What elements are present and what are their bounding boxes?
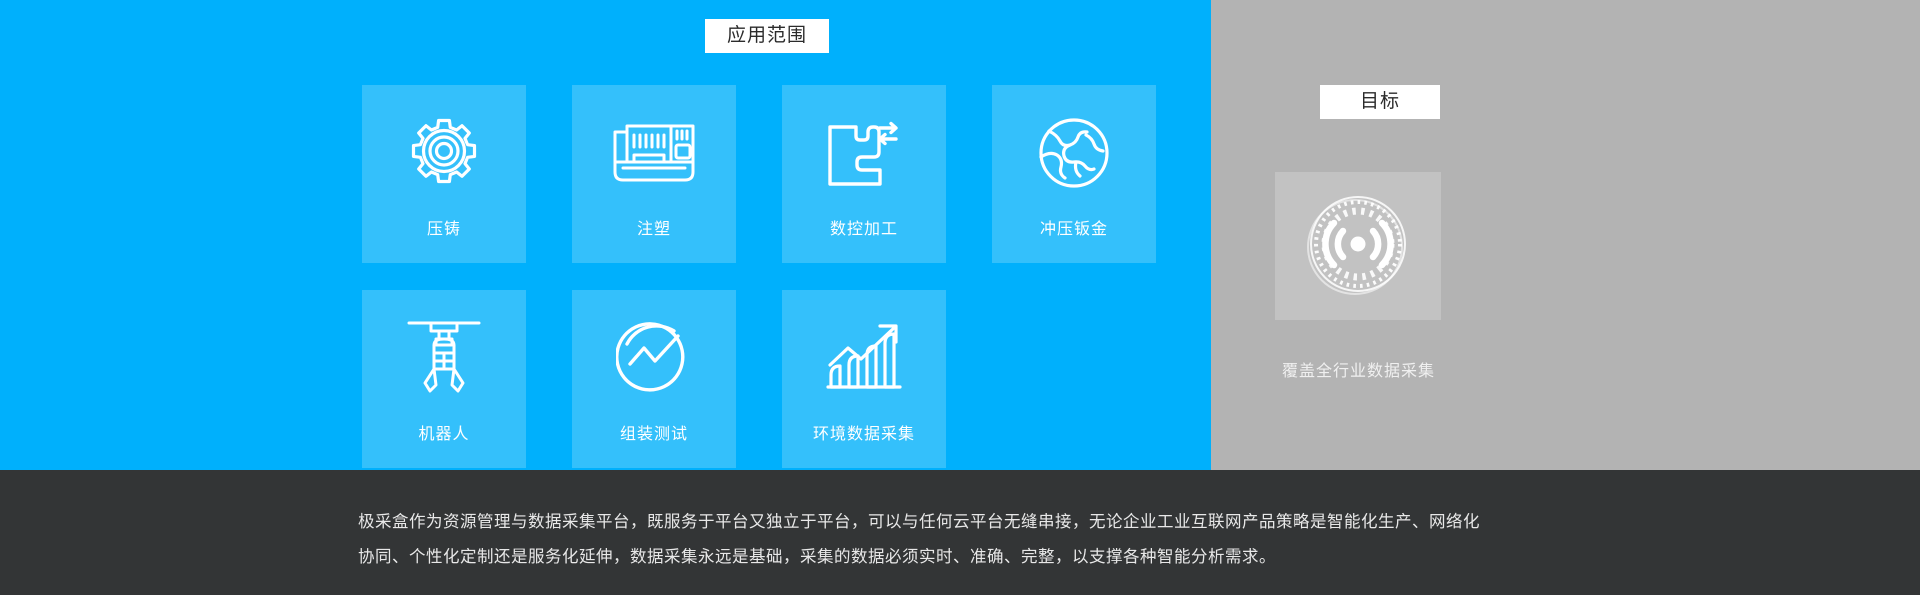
- tile-label: 组装测试: [620, 420, 688, 444]
- tile-label: 注塑: [637, 215, 671, 239]
- wireless-signal-icon: [1298, 184, 1418, 309]
- tile-cnc-machining[interactable]: 数控加工: [782, 85, 946, 263]
- tile-injection-molding[interactable]: 注塑: [572, 85, 736, 263]
- tile-label: 环境数据采集: [813, 420, 915, 444]
- tile-environment-data-collection[interactable]: 环境数据采集: [782, 290, 946, 468]
- robot-gripper-icon: [362, 302, 526, 414]
- target-caption: 覆盖全行业数据采集: [1211, 357, 1506, 381]
- tile-assembly-testing[interactable]: 组装测试: [572, 290, 736, 468]
- footer-panel: 极采盒作为资源管理与数据采集平台，既服务于平台又独立于平台，可以与任何云平台无缝…: [0, 470, 1920, 595]
- circle-line-chart-icon: [572, 302, 736, 414]
- target-section-badge: 目标: [1320, 85, 1440, 119]
- tile-label: 冲压钣金: [1040, 215, 1108, 239]
- tile-label: 数控加工: [830, 215, 898, 239]
- globe-icon: [992, 97, 1156, 209]
- panels-container: 应用范围 压铸: [0, 0, 1920, 470]
- injection-molding-machine-icon: [572, 97, 736, 209]
- scope-tile-grid: 压铸: [362, 85, 982, 468]
- gear-icon: [362, 97, 526, 209]
- target-card[interactable]: [1275, 172, 1441, 320]
- growth-bar-chart-icon: [782, 302, 946, 414]
- footer-line-2: 协同、个性化定制还是服务化延伸，数据采集永远是基础，采集的数据必须实时、准确、完…: [358, 540, 1573, 575]
- tile-label: 机器人: [418, 420, 469, 444]
- scope-section-badge: 应用范围: [705, 19, 829, 53]
- cnc-machining-icon: [782, 97, 946, 209]
- target-panel: 目标 覆盖全行业数据采集: [1211, 0, 1920, 470]
- footer-description: 极采盒作为资源管理与数据采集平台，既服务于平台又独立于平台，可以与任何云平台无缝…: [358, 505, 1573, 575]
- footer-line-1: 极采盒作为资源管理与数据采集平台，既服务于平台又独立于平台，可以与任何云平台无缝…: [358, 505, 1573, 540]
- tile-die-casting[interactable]: 压铸: [362, 85, 526, 263]
- tile-robot[interactable]: 机器人: [362, 290, 526, 468]
- tile-stamping-sheet-metal[interactable]: 冲压钣金: [992, 85, 1156, 263]
- scope-panel: 应用范围 压铸: [0, 0, 1211, 470]
- tile-label: 压铸: [427, 215, 461, 239]
- slide-root: 应用范围 压铸: [0, 0, 1920, 595]
